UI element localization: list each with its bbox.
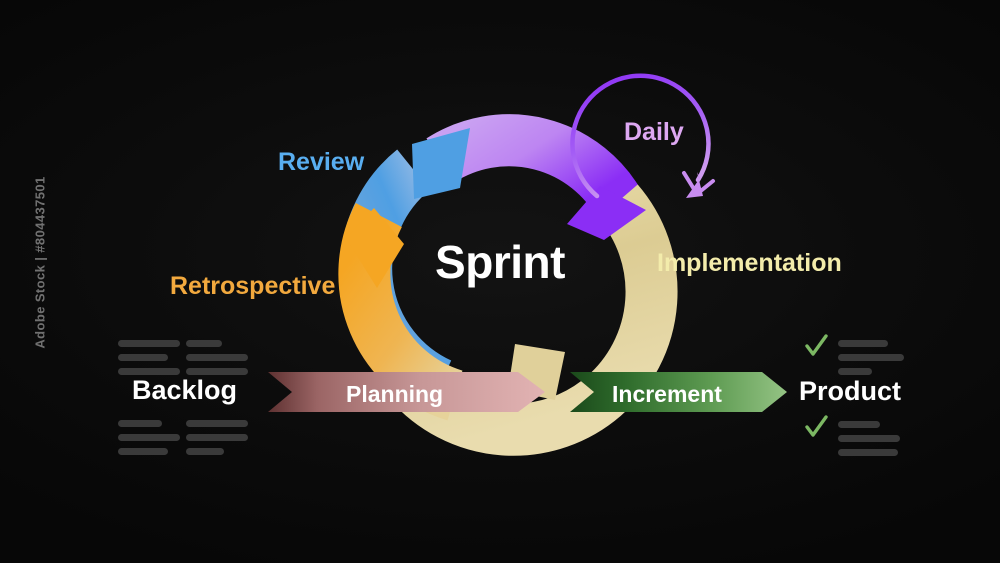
product-check-icon-top [803,333,829,364]
doc-line [186,368,248,375]
product-doc-top [838,340,904,382]
doc-line [118,368,180,375]
diagram-canvas: Adobe StockAdobe StockAdobe StockAdobe S… [0,0,1000,563]
cycle-label-retrospective: Retrospective [170,272,335,301]
doc-line [118,434,180,441]
doc-line [186,434,248,441]
check-icon [803,333,829,359]
backlog-doc-bottom-left [118,420,180,462]
doc-line [186,420,248,427]
doc-line [186,340,222,347]
doc-line [838,449,898,456]
backlog-doc-top-left [118,340,180,382]
cycle-label-daily: Daily [624,118,684,147]
doc-line [838,435,900,442]
doc-line [118,340,180,347]
ribbon-label-increment: Increment [612,381,722,408]
backlog-doc-bottom-right [186,420,248,462]
cycle-label-review: Review [278,148,364,177]
doc-line [118,420,162,427]
doc-line [838,340,888,347]
doc-line [118,354,168,361]
doc-line [838,354,904,361]
product-check-icon-bottom [803,414,829,445]
check-icon [803,414,829,440]
cycle-label-implementation: Implementation [657,249,842,278]
doc-line [838,368,872,375]
ring-center-label: Sprint [0,235,1000,289]
doc-line [838,421,880,428]
doc-line [118,448,168,455]
doc-line [186,448,224,455]
ribbon-label-planning: Planning [346,381,443,408]
doc-line [186,354,248,361]
product-doc-bottom [838,421,900,463]
backlog-doc-top-right [186,340,248,382]
